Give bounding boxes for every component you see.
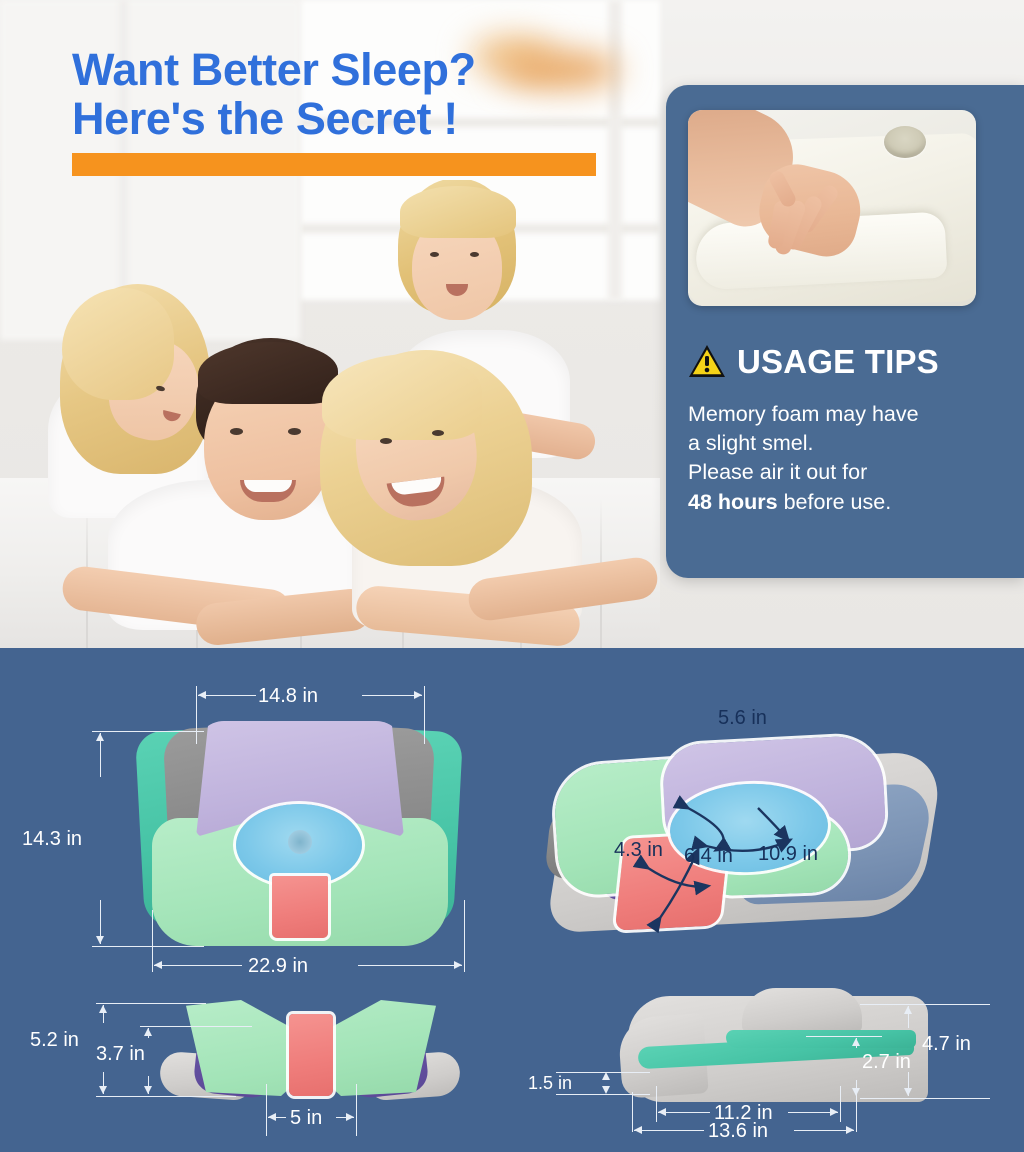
ext-line: [806, 1036, 882, 1037]
headline-line-1: Want Better Sleep?: [72, 46, 632, 95]
dim-cradle-length: 10.9 in: [758, 844, 818, 864]
ext-line: [266, 1084, 267, 1136]
foam-vent-hole: [884, 126, 926, 158]
ext-line: [152, 910, 153, 972]
dim-center-width: 5 in: [290, 1108, 322, 1128]
usage-tips-body: Memory foam may have a slight smel. Plea…: [688, 400, 1008, 517]
dim-inner-height: 3.7 in: [96, 1044, 145, 1064]
memory-foam-photo: [688, 110, 976, 306]
family-photo: [0, 180, 660, 648]
ext-line: [140, 1026, 252, 1027]
dim-slot-length: 6.4 in: [684, 846, 733, 866]
ext-line: [356, 1084, 357, 1136]
dim-outer-height: 5.2 in: [30, 1030, 79, 1050]
dimensions-section: 14.8 in 14.3 in 22.9 in: [0, 648, 1024, 1152]
usage-tips-title: USAGE TIPS: [737, 345, 939, 378]
dim-top-width: 14.8 in: [258, 686, 318, 706]
dim-high-loft: 4.7 in: [922, 1034, 971, 1054]
ext-line: [856, 1092, 857, 1132]
ext-line: [464, 900, 465, 972]
tips-line-2: a slight smel.: [688, 429, 1008, 458]
headline-underline-bar: [72, 153, 596, 176]
headline: Want Better Sleep? Here's the Secret !: [72, 46, 632, 143]
headline-line-2: Here's the Secret !: [72, 95, 632, 144]
dim-total-width: 22.9 in: [248, 956, 308, 976]
dim-total-height: 14.3 in: [22, 829, 82, 849]
ext-line: [840, 1086, 841, 1122]
dim-cradle-width: 5.6 in: [718, 708, 767, 728]
ext-line: [96, 1096, 236, 1097]
ext-line: [656, 1086, 657, 1122]
ext-line: [424, 686, 425, 744]
ext-line: [860, 1098, 990, 1099]
warning-triangle-icon: [688, 344, 726, 378]
dim-low-loft: 2.7 in: [862, 1052, 911, 1072]
ext-line: [632, 1092, 633, 1132]
tips-hours-rest: before use.: [778, 490, 892, 514]
ext-line: [860, 1004, 990, 1005]
usage-tips-heading: USAGE TIPS: [688, 340, 1008, 382]
tips-hours-bold: 48 hours: [688, 490, 778, 514]
ext-line: [556, 1094, 650, 1095]
tips-line-3: Please air it out for: [688, 458, 1008, 487]
infographic-page: Want Better Sleep? Here's the Secret !: [0, 0, 1024, 1152]
hero-section: Want Better Sleep? Here's the Secret !: [0, 0, 1024, 648]
dim-outer-depth: 13.6 in: [708, 1121, 768, 1141]
ext-line: [96, 1003, 206, 1004]
dim-slot-width: 4.3 in: [614, 840, 663, 860]
dim-neck-lip: 1.5 in: [528, 1074, 572, 1092]
ext-line: [92, 946, 204, 947]
ext-line: [196, 686, 197, 744]
tips-line-4: 48 hours before use.: [688, 488, 1008, 517]
tips-line-1: Memory foam may have: [688, 400, 1008, 429]
ext-line: [92, 731, 204, 732]
usage-tips-panel: USAGE TIPS Memory foam may have a slight…: [666, 85, 1024, 578]
